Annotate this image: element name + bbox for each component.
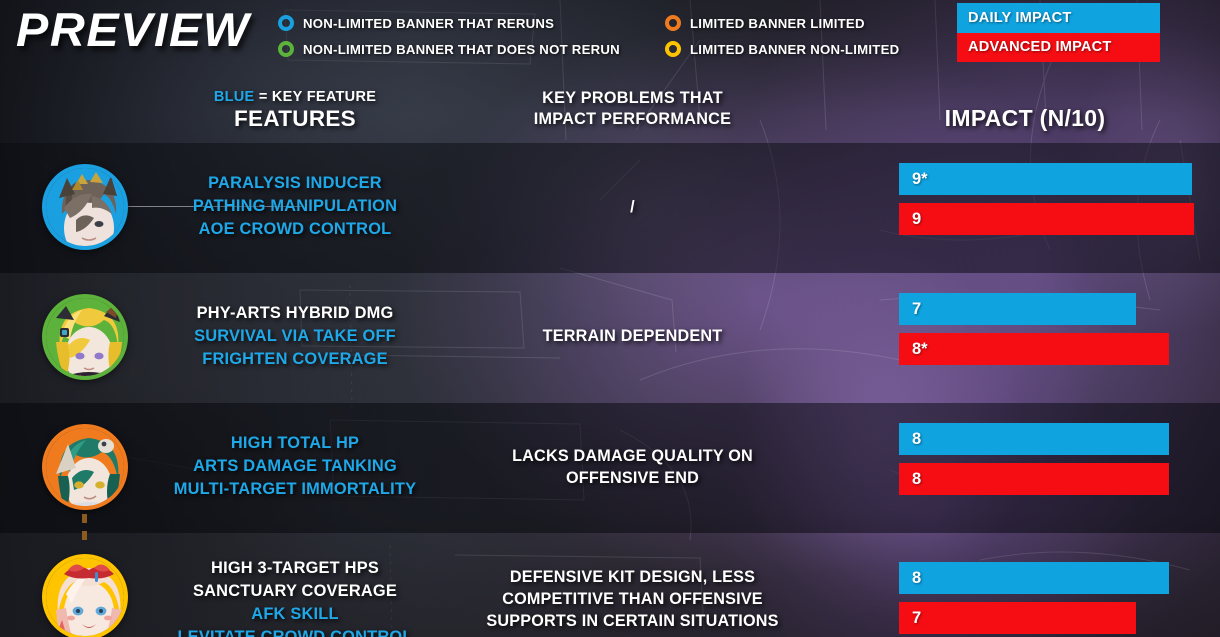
bar-daily-impact[interactable]: 8 <box>899 423 1169 455</box>
features-cell: PARALYSIS INDUCER PATHING MANIPULATION A… <box>145 172 445 241</box>
table-row: HIGH 3-TARGET HPS SANCTUARY COVERAGE AFK… <box>0 533 1220 637</box>
feature-line: ARTS DAMAGE TANKING <box>145 455 445 478</box>
problem-line: TERRAIN DEPENDENT <box>450 325 815 347</box>
features-cell: HIGH 3-TARGET HPS SANCTUARY COVERAGE AFK… <box>145 557 445 637</box>
impact-bars: 7 8* <box>899 293 1199 373</box>
feature-line: FRIGHTEN COVERAGE <box>145 348 445 371</box>
legend-label: LIMITED BANNER LIMITED <box>690 16 865 31</box>
column-header-features: BLUE = KEY FEATURE FEATURES <box>150 89 440 132</box>
feature-line: LEVITATE CROWD CONTROL <box>145 626 445 637</box>
problem-line: LACKS DAMAGE QUALITY ON <box>450 445 815 467</box>
bar-daily-impact[interactable]: 8 <box>899 562 1169 594</box>
badge-advanced-impact[interactable]: ADVANCED IMPACT <box>957 33 1160 62</box>
legend-column-left: NON-LIMITED BANNER THAT RERUNS NON-LIMIT… <box>278 10 620 62</box>
features-key-color-word: BLUE <box>214 89 255 105</box>
legend-column-right: LIMITED BANNER LIMITED LIMITED BANNER NO… <box>665 10 899 62</box>
feature-line: PHY-ARTS HYBRID DMG <box>145 302 445 325</box>
badge-daily-impact[interactable]: DAILY IMPACT <box>957 3 1160 33</box>
problems-cell: / <box>450 196 815 218</box>
features-key-note-rest: = KEY FEATURE <box>254 89 376 105</box>
avatar[interactable] <box>42 164 128 250</box>
impact-legend-badges: DAILY IMPACT ADVANCED IMPACT <box>957 3 1160 62</box>
legend-label: NON-LIMITED BANNER THAT DOES NOT RERUN <box>303 42 620 57</box>
feature-line: MULTI-TARGET IMMORTALITY <box>145 478 445 501</box>
features-title: FEATURES <box>150 106 440 132</box>
bar-daily-impact[interactable]: 9* <box>899 163 1192 195</box>
character-portrait <box>46 558 124 636</box>
column-header-problems: KEY PROBLEMS THAT IMPACT PERFORMANCE <box>450 88 815 130</box>
features-key-note: BLUE = KEY FEATURE <box>150 89 440 105</box>
legend-label: LIMITED BANNER NON-LIMITED <box>690 42 899 57</box>
bar-advanced-impact[interactable]: 8 <box>899 463 1169 495</box>
ring-icon-yellow <box>665 41 681 57</box>
table-row: HIGH TOTAL HP ARTS DAMAGE TANKING MULTI-… <box>0 403 1220 533</box>
impact-bars: 9* 9 <box>899 163 1199 243</box>
problems-cell: TERRAIN DEPENDENT <box>450 325 815 347</box>
legend-item-non-limited-rerun[interactable]: NON-LIMITED BANNER THAT RERUNS <box>278 10 620 36</box>
feature-line: HIGH TOTAL HP <box>145 432 445 455</box>
impact-bars: 8 7 <box>899 562 1199 637</box>
feature-line: AFK SKILL <box>145 603 445 626</box>
problem-line: DEFENSIVE KIT DESIGN, LESS <box>450 566 815 588</box>
problems-cell: LACKS DAMAGE QUALITY ON OFFENSIVE END <box>450 445 815 489</box>
features-cell: PHY-ARTS HYBRID DMG SURVIVAL VIA TAKE OF… <box>145 302 445 371</box>
page-title: PREVIEW <box>16 2 250 57</box>
ring-icon-green <box>278 41 294 57</box>
problem-line: COMPETITIVE THAN OFFENSIVE <box>450 588 815 610</box>
column-header-impact: IMPACT (N/10) <box>860 105 1190 132</box>
problem-line: OFFENSIVE END <box>450 467 815 489</box>
feature-line: SURVIVAL VIA TAKE OFF <box>145 325 445 348</box>
feature-line: HIGH 3-TARGET HPS <box>145 557 445 580</box>
bar-advanced-impact[interactable]: 9 <box>899 203 1194 235</box>
legend-label: NON-LIMITED BANNER THAT RERUNS <box>303 16 554 31</box>
character-portrait <box>46 168 124 246</box>
avatar[interactable] <box>42 424 128 510</box>
problems-cell: DEFENSIVE KIT DESIGN, LESS COMPETITIVE T… <box>450 566 815 632</box>
legend-item-limited-limited[interactable]: LIMITED BANNER LIMITED <box>665 10 899 36</box>
avatar[interactable] <box>42 294 128 380</box>
problem-line: SUPPORTS IN CERTAIN SITUATIONS <box>450 610 815 632</box>
problem-line: / <box>450 196 815 218</box>
problems-title-line1: KEY PROBLEMS THAT <box>450 88 815 109</box>
legend-item-limited-non-limited[interactable]: LIMITED BANNER NON-LIMITED <box>665 36 899 62</box>
bar-daily-impact[interactable]: 7 <box>899 293 1136 325</box>
impact-bars: 8 8 <box>899 423 1199 503</box>
legend-item-non-limited-no-rerun[interactable]: NON-LIMITED BANNER THAT DOES NOT RERUN <box>278 36 620 62</box>
feature-line: PATHING MANIPULATION <box>145 195 445 218</box>
feature-line: PARALYSIS INDUCER <box>145 172 445 195</box>
feature-line: AOE CROWD CONTROL <box>145 218 445 241</box>
character-portrait <box>46 298 124 376</box>
problems-title-line2: IMPACT PERFORMANCE <box>450 109 815 130</box>
table-row: PARALYSIS INDUCER PATHING MANIPULATION A… <box>0 143 1220 273</box>
features-cell: HIGH TOTAL HP ARTS DAMAGE TANKING MULTI-… <box>145 432 445 501</box>
table-row: PHY-ARTS HYBRID DMG SURVIVAL VIA TAKE OF… <box>0 273 1220 403</box>
ring-icon-orange <box>665 15 681 31</box>
bar-advanced-impact[interactable]: 7 <box>899 602 1136 634</box>
feature-line: SANCTUARY COVERAGE <box>145 580 445 603</box>
avatar[interactable] <box>42 554 128 637</box>
character-portrait <box>46 428 124 506</box>
ring-icon-blue <box>278 15 294 31</box>
bar-advanced-impact[interactable]: 8* <box>899 333 1169 365</box>
infographic-root: PREVIEW NON-LIMITED BANNER THAT RERUNS N… <box>0 0 1220 637</box>
